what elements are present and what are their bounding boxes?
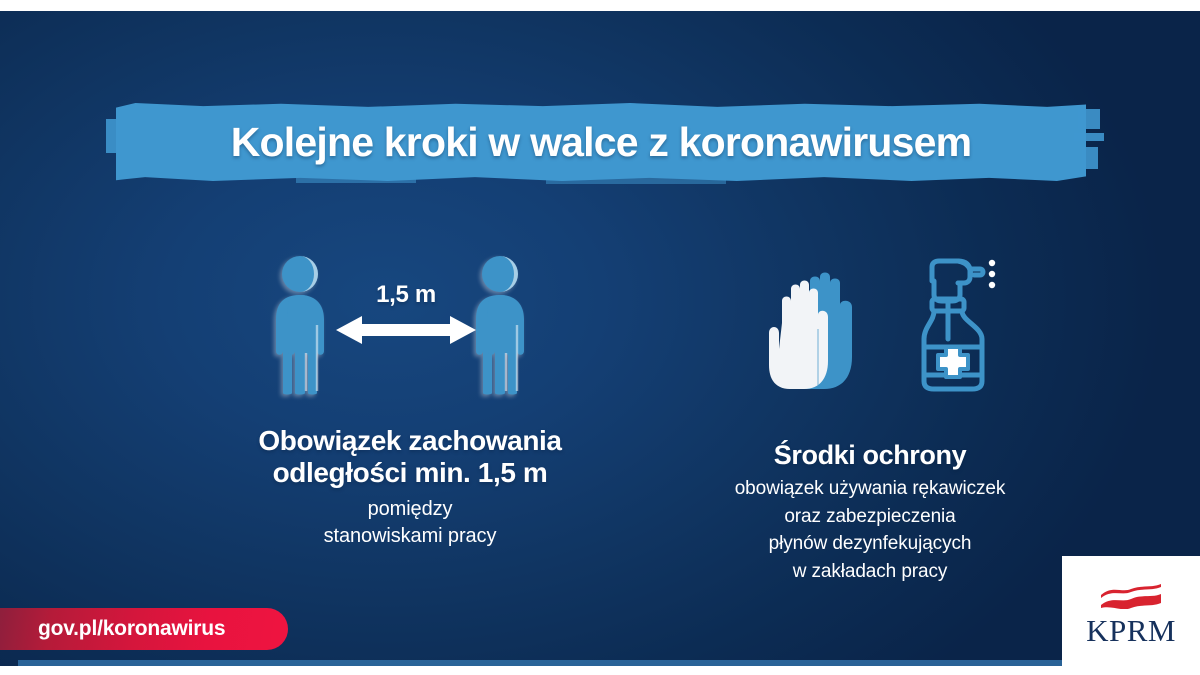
person-icon [470,255,542,395]
spray-droplet [989,282,995,288]
gloves-icon [760,253,880,393]
subtext-line: obowiązek używania rękawiczek [660,475,1080,503]
distance-caption: Obowiązek zachowania odległości min. 1,5… [170,425,650,549]
kprm-logo-text: KPRM [1086,613,1176,649]
heading-line: Obowiązek zachowania [170,425,650,457]
social-distance-icon-group: 1,5 m [170,245,650,405]
double-arrow-icon [336,313,476,347]
section-protection [660,245,1080,405]
gov-pl-badge[interactable]: gov.pl/koronawirus [0,608,288,650]
person-icon [270,255,342,395]
disinfectant-spray-icon [910,251,1000,393]
poster-root: Kolejne kroki w walce z koronawirusem 1,… [0,0,1200,675]
spray-droplet [989,260,995,266]
protection-icon-group [660,245,1080,405]
subtext-line: płynów dezynfekujących [660,530,1080,558]
heading-line: odległości min. 1,5 m [170,457,650,489]
subtext-line: stanowiskami pracy [170,523,650,550]
spray-droplet [989,271,995,277]
section-distance: 1,5 m [170,245,650,405]
poster-title: Kolejne kroki w walce z koronawirusem [116,103,1086,181]
distance-heading: Obowiązek zachowania odległości min. 1,5… [170,425,650,490]
protection-caption: Środki ochrony obowiązek używania rękawi… [660,440,1080,586]
kprm-logo: KPRM [1062,556,1200,675]
polish-flag-wave-icon [1098,583,1164,609]
gov-pl-badge-label: gov.pl/koronawirus [38,617,225,641]
subtext-line: w zakładach pracy [660,558,1080,586]
bottom-accent-strip [18,660,1178,666]
distance-subtext: pomiędzy stanowiskami pracy [170,496,650,549]
subtext-line: pomiędzy [170,496,650,523]
protection-subtext: obowiązek używania rękawiczek oraz zabez… [660,475,1080,585]
protection-heading: Środki ochrony [660,440,1080,471]
subtext-line: oraz zabezpieczenia [660,503,1080,531]
title-banner: Kolejne kroki w walce z koronawirusem [116,103,1086,181]
distance-label: 1,5 m [342,281,470,309]
